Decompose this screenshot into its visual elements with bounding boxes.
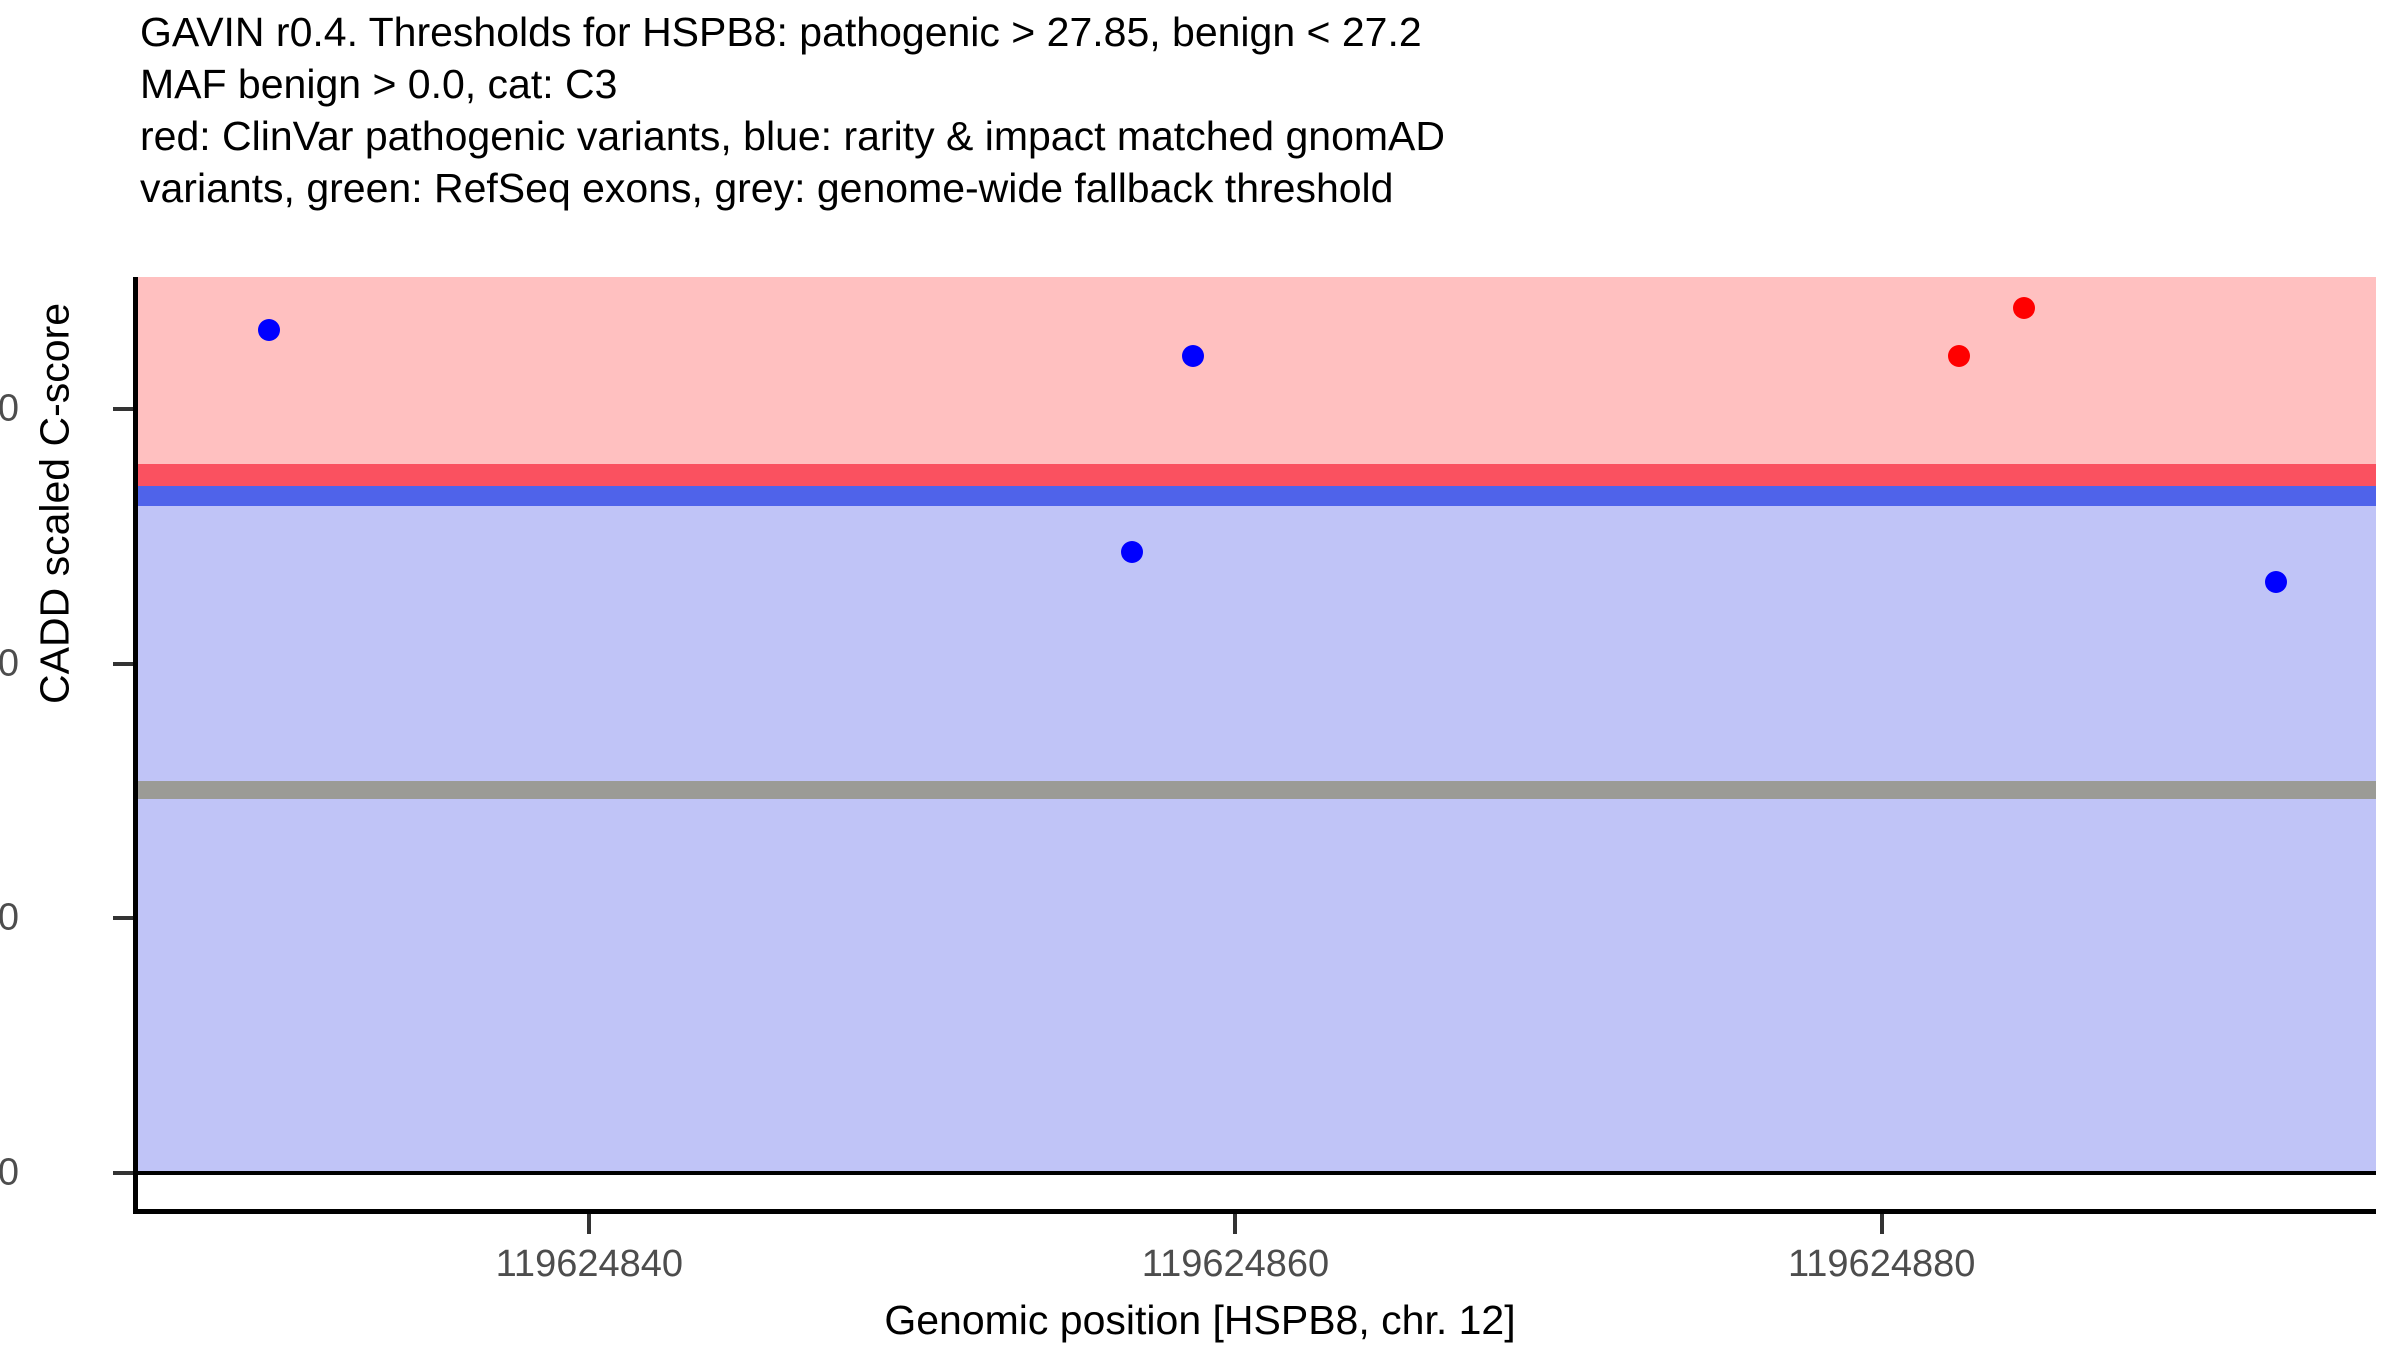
x-tick-mark: [1233, 1214, 1237, 1234]
y-tick-label: 20: [0, 642, 19, 685]
title-line-3: red: ClinVar pathogenic variants, blue: …: [140, 110, 2340, 162]
gnomad-variant-point[interactable]: [1121, 541, 1143, 563]
title-line-2: MAF benign > 0.0, cat: C3: [140, 58, 2340, 110]
x-axis-line: [133, 1209, 2376, 1214]
clinvar-pathogenic-point[interactable]: [1948, 345, 1970, 367]
x-tick-label: 119624840: [496, 1243, 683, 1286]
y-axis-line: [133, 277, 138, 1214]
benign-threshold-line: [137, 486, 2376, 506]
chart-title-block: GAVIN r0.4. Thresholds for HSPB8: pathog…: [140, 6, 2340, 214]
y-tick-label: 10: [0, 897, 19, 940]
gnomad-variant-point[interactable]: [258, 319, 280, 341]
zero-baseline: [137, 1171, 2376, 1175]
pathogenic-region: [137, 277, 2376, 464]
plot-panel: [137, 277, 2376, 1212]
x-tick-label: 119624860: [1142, 1243, 1329, 1286]
gnomad-variant-point[interactable]: [2265, 571, 2287, 593]
y-tick-mark: [113, 662, 133, 666]
y-tick-mark: [113, 1171, 133, 1175]
y-tick-mark: [113, 407, 133, 411]
y-axis-label: CADD scaled C-score: [32, 54, 79, 954]
y-tick-mark: [113, 916, 133, 920]
x-tick-label: 119624880: [1788, 1243, 1975, 1286]
gnomad-variant-point[interactable]: [1182, 345, 1204, 367]
y-tick-label: 0: [0, 1152, 19, 1195]
y-tick-label: 30: [0, 388, 19, 431]
clinvar-pathogenic-point[interactable]: [2013, 297, 2035, 319]
pathogenic-threshold-line: [137, 464, 2376, 486]
genome-wide-fallback-line: [137, 781, 2376, 799]
benign-region: [137, 506, 2376, 1173]
title-line-1: GAVIN r0.4. Thresholds for HSPB8: pathog…: [140, 6, 2340, 58]
x-tick-mark: [1880, 1214, 1884, 1234]
title-line-4: variants, green: RefSeq exons, grey: gen…: [140, 162, 2340, 214]
x-tick-mark: [587, 1214, 591, 1234]
x-axis-label: Genomic position [HSPB8, chr. 12]: [0, 1297, 2400, 1344]
